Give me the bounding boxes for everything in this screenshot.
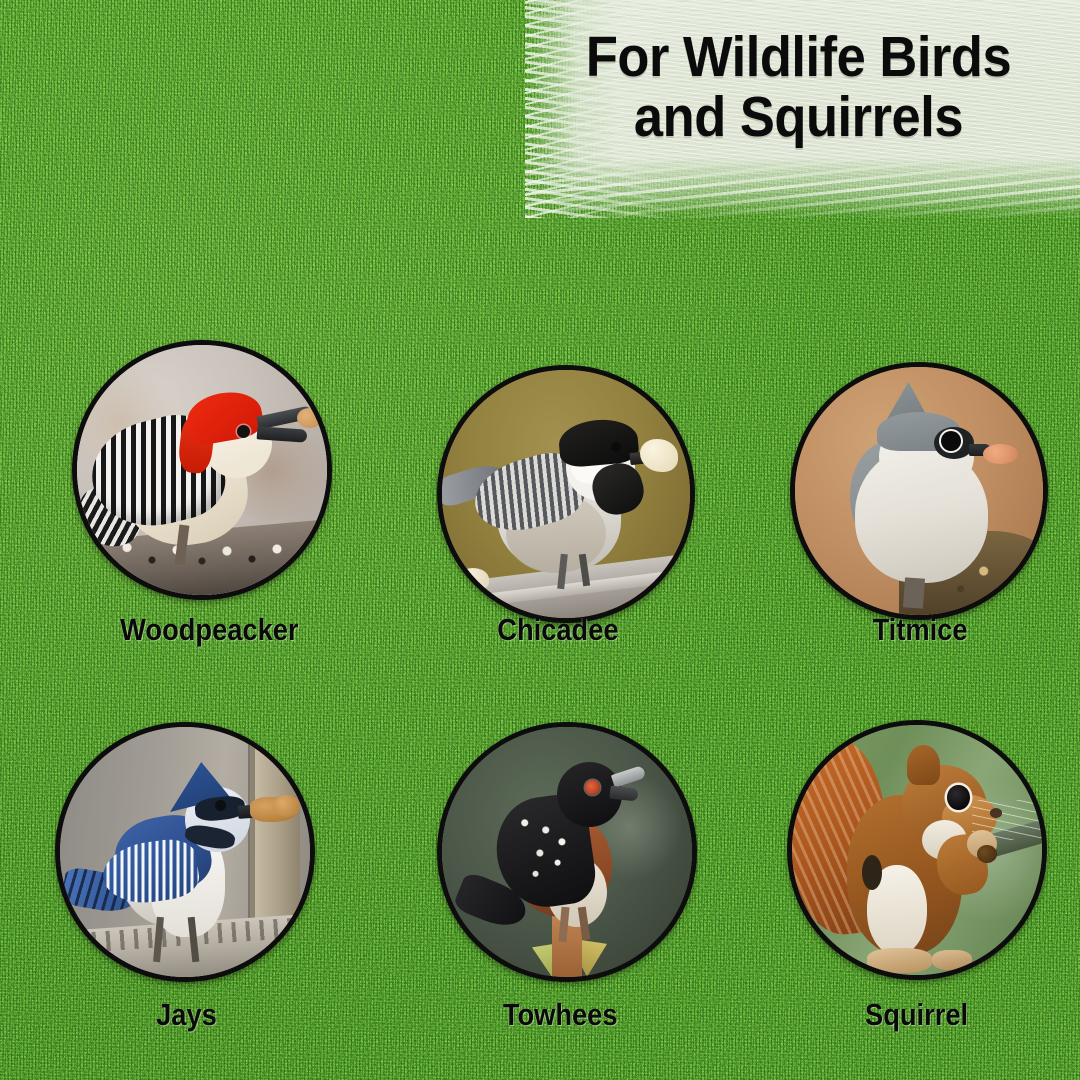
product-infographic: For Wildlife Birds and Squirrels Woodpea… [0, 0, 1080, 1080]
photo-circle-jays[interactable] [55, 722, 315, 982]
label-titmice: Titmice [872, 612, 967, 648]
label-chicadee: Chicadee [497, 612, 618, 648]
photo-titmice [795, 367, 1043, 615]
headline-line-2: and Squirrels [547, 88, 1050, 148]
photo-chicadee [442, 370, 690, 618]
headline-banner: For Wildlife Birds and Squirrels [525, 0, 1080, 218]
photo-circle-chicadee[interactable] [437, 365, 695, 623]
label-woodpeacker: Woodpeacker [120, 612, 298, 648]
label-jays: Jays [156, 997, 217, 1033]
headline-line-1: For Wildlife Birds [586, 25, 1011, 89]
photo-towhees [442, 727, 692, 977]
photo-circle-woodpeacker[interactable] [72, 340, 332, 600]
label-towhees: Towhees [503, 997, 618, 1033]
label-squirrel: Squirrel [865, 997, 968, 1033]
photo-squirrel [792, 725, 1042, 975]
photo-circle-squirrel[interactable] [787, 720, 1047, 980]
headline-text: For Wildlife Birds and Squirrels [547, 28, 1050, 148]
photo-circle-titmice[interactable] [790, 362, 1048, 620]
photo-circle-towhees[interactable] [437, 722, 697, 982]
photo-jays [60, 727, 310, 977]
photo-woodpeacker [77, 345, 327, 595]
